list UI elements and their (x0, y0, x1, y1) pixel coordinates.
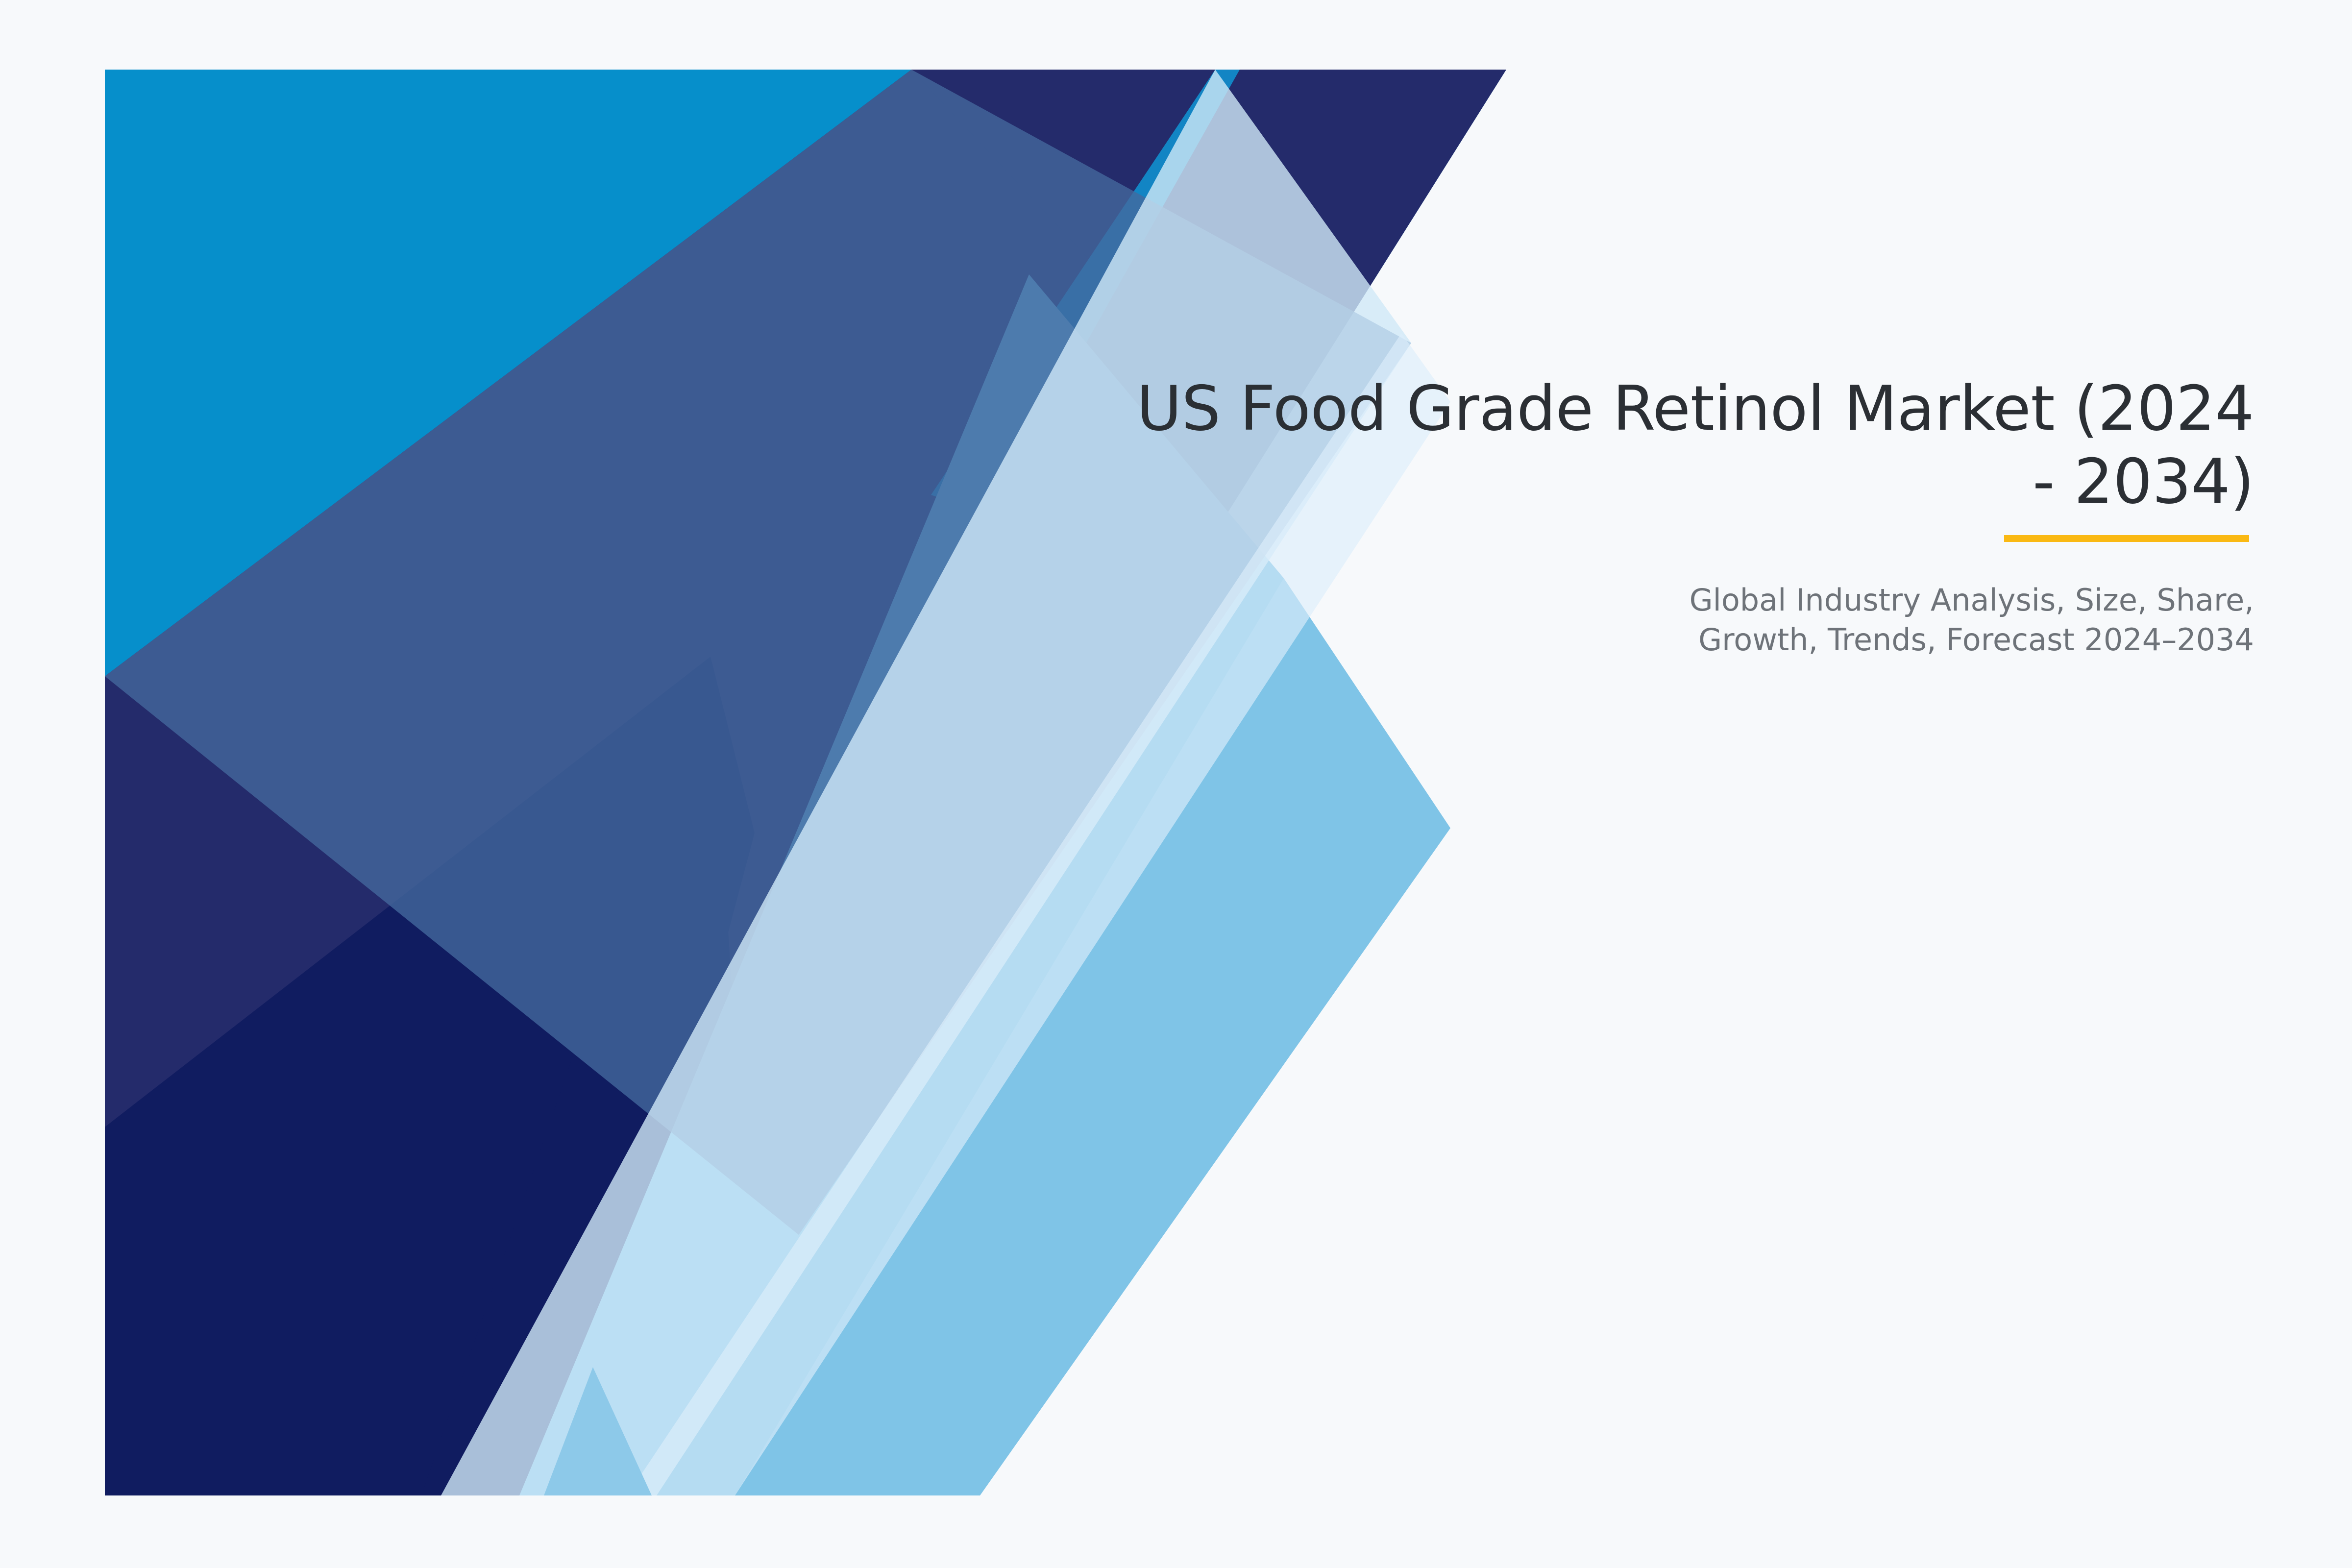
shape-light-blue-notch (544, 1367, 652, 1495)
page-subtitle-line-2: Growth, Trends, Forecast 2024–2034 (833, 620, 2254, 660)
shape-cyan-triangle (105, 70, 911, 676)
title-accent-underline (2004, 535, 2249, 542)
page-title-line-1: US Food Grade Retinol Market (2024 (833, 372, 2254, 445)
shape-sky-blue-band-2 (735, 578, 1450, 1495)
shape-cyan-base (105, 70, 1506, 1495)
abstract-geometric-artwork (0, 0, 2352, 1568)
shape-navy-wedge (105, 70, 1506, 1495)
shape-deep-navy-v-right (421, 657, 755, 1495)
cover-text-block: US Food Grade Retinol Market (2024 - 203… (833, 372, 2254, 660)
shape-pale-blue-overlay (441, 70, 1411, 1495)
page-title: US Food Grade Retinol Market (2024 - 203… (833, 372, 2254, 518)
page-title-line-2: - 2034) (833, 445, 2254, 518)
page-subtitle-line-1: Global Industry Analysis, Size, Share, (833, 581, 2254, 620)
page-subtitle: Global Industry Analysis, Size, Share, G… (833, 581, 2254, 660)
shape-deep-navy-v (105, 657, 764, 1495)
report-cover-slide: US Food Grade Retinol Market (2024 - 203… (0, 0, 2352, 1568)
